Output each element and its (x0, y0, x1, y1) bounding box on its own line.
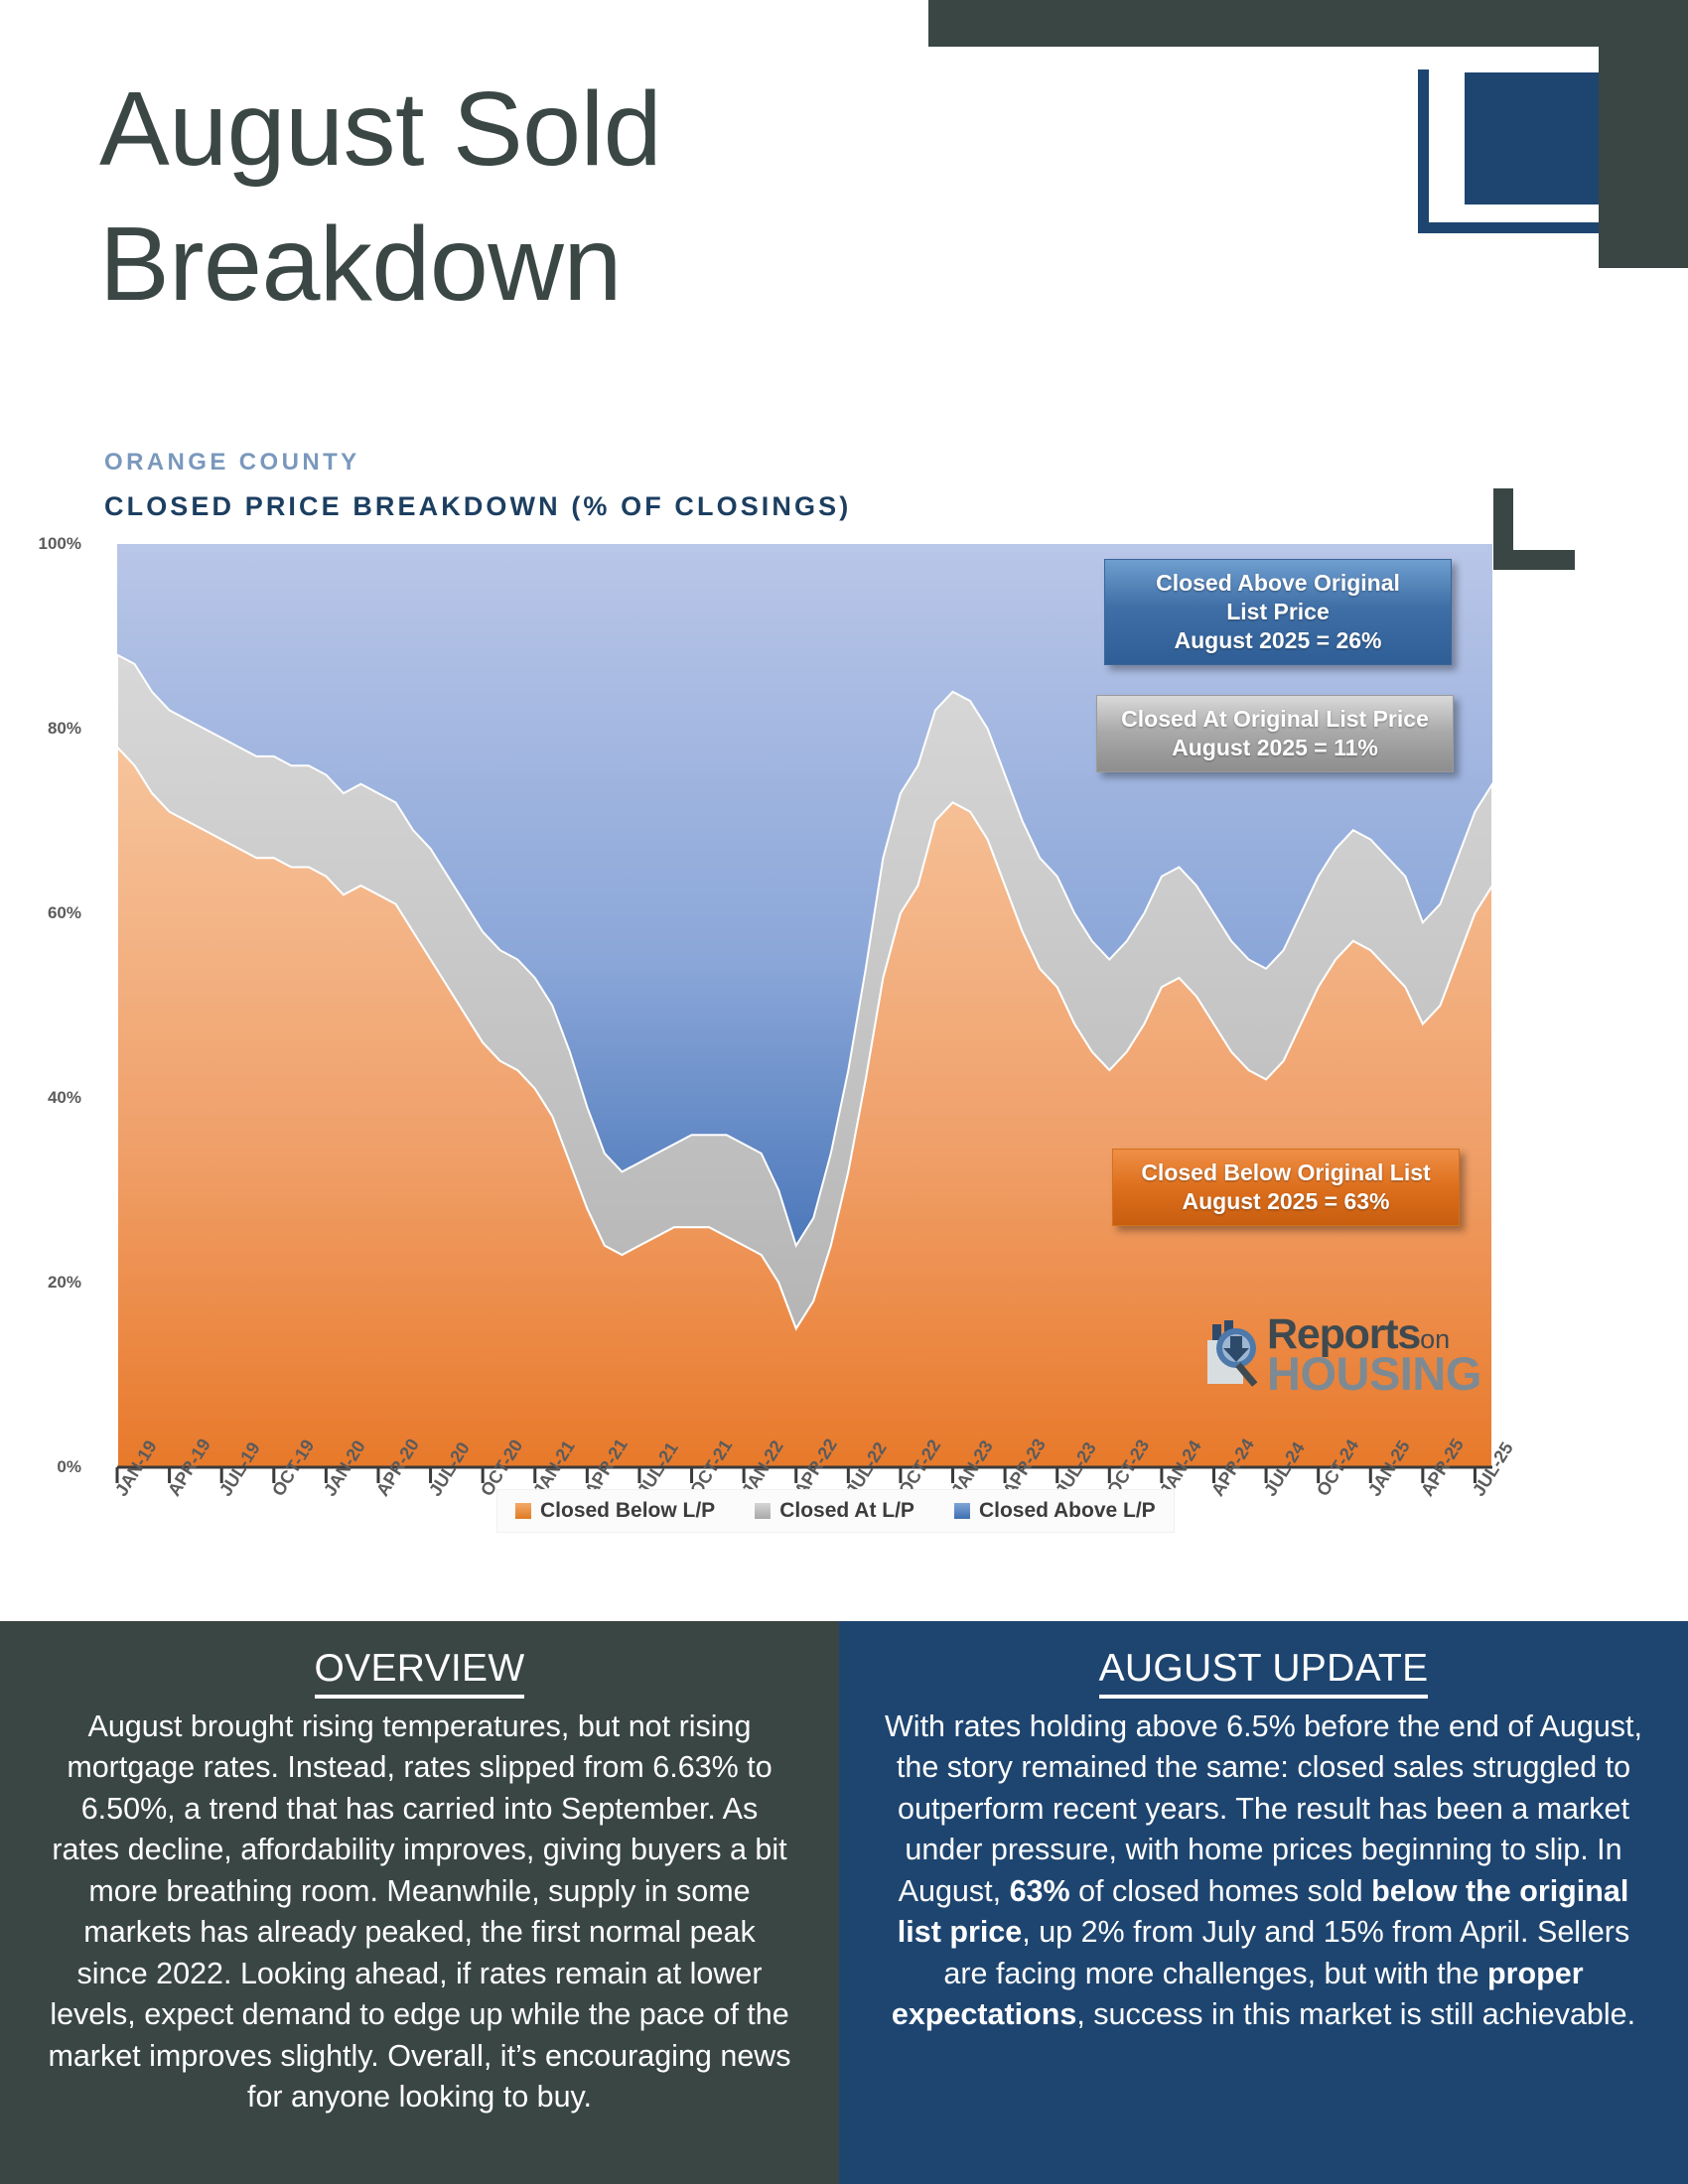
legend-label-below: Closed Below L/P (540, 1499, 715, 1523)
callout-closed-at: Closed At Original List PriceAugust 2025… (1096, 695, 1454, 772)
y-axis-tick-label: 40% (20, 1088, 81, 1108)
august-update-heading: AUGUST UPDATE (885, 1647, 1642, 1696)
legend-swatch-at-icon (755, 1503, 771, 1519)
decorative-navy-square (1465, 72, 1599, 205)
legend-swatch-above-icon (954, 1503, 970, 1519)
legend-item-at: Closed At L/P (755, 1499, 914, 1523)
legend-item-above: Closed Above L/P (954, 1499, 1156, 1523)
decorative-slate-bracket (1493, 488, 1575, 570)
august-update-panel: AUGUST UPDATE With rates holding above 6… (839, 1621, 1688, 2184)
y-axis-tick-label: 0% (20, 1457, 81, 1477)
decorative-right-bar (1599, 0, 1688, 268)
legend-swatch-below-icon (515, 1503, 531, 1519)
y-axis-tick-label: 20% (20, 1273, 81, 1293)
legend-label-at: Closed At L/P (779, 1499, 914, 1523)
overview-heading: OVERVIEW (46, 1647, 793, 1696)
overview-body: August brought rising temperatures, but … (46, 1706, 793, 2118)
callout-closed-above: Closed Above OriginalList PriceAugust 20… (1104, 559, 1452, 665)
chart-legend: Closed Below L/P Closed At L/P Closed Ab… (496, 1489, 1175, 1533)
overview-panel: OVERVIEW August brought rising temperatu… (0, 1621, 839, 2184)
logo-line-two: HOUSING (1267, 1354, 1481, 1394)
logo-wordmark: Reportson HOUSING (1267, 1316, 1481, 1394)
subtitle-metric: CLOSED PRICE BREAKDOWN (% OF CLOSINGS) (104, 491, 851, 522)
page-title: August SoldBreakdown (99, 63, 914, 332)
callout-closed-below: Closed Below Original ListAugust 2025 = … (1112, 1149, 1460, 1226)
y-axis-tick-label: 100% (20, 534, 81, 554)
poster-page: August SoldBreakdown ORANGE COUNTY CLOSE… (0, 0, 1688, 2184)
reports-on-housing-logo: Reportson HOUSING (1203, 1305, 1474, 1405)
y-axis-tick-label: 60% (20, 903, 81, 923)
decorative-top-bar (928, 0, 1688, 47)
y-axis-tick-label: 80% (20, 719, 81, 739)
legend-item-below: Closed Below L/P (515, 1499, 715, 1523)
overview-heading-text: OVERVIEW (315, 1647, 525, 1699)
august-update-body: With rates holding above 6.5% before the… (885, 1706, 1642, 2036)
legend-label-above: Closed Above L/P (979, 1499, 1156, 1523)
bottom-panels: OVERVIEW August brought rising temperatu… (0, 1621, 1688, 2184)
magnifying-glass-icon (1203, 1318, 1265, 1392)
subtitle-county: ORANGE COUNTY (104, 449, 360, 477)
august-update-heading-text: AUGUST UPDATE (1099, 1647, 1429, 1699)
